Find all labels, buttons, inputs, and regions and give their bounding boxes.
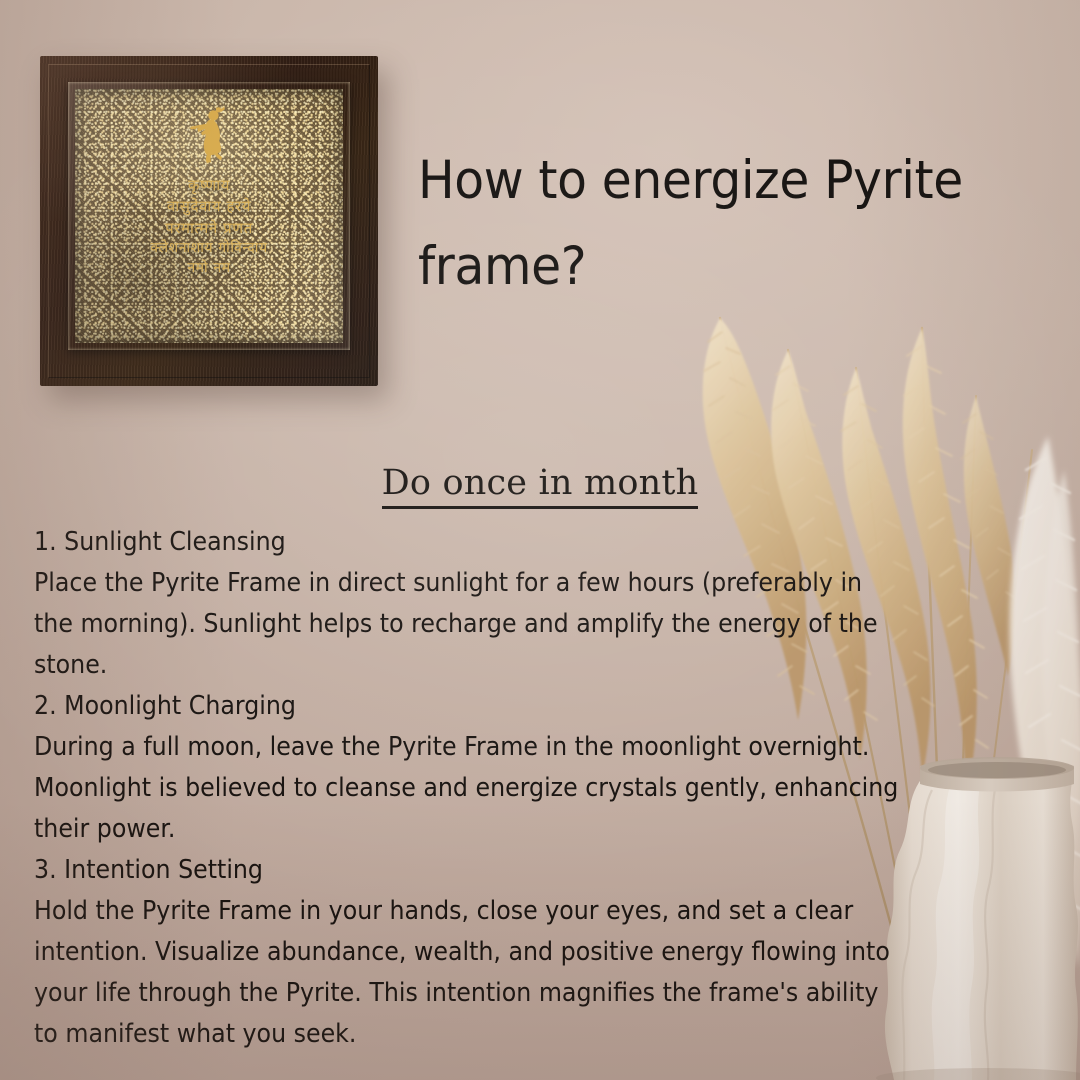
- section-subheading: Do once in month: [0, 463, 1080, 503]
- poster-canvas: कृष्णाय वासुदेवाय हरये परमात्मने प्रणत क…: [0, 0, 1080, 1080]
- mantra-line-4: क्लेशनाशाय गोविन्दाय: [75, 239, 343, 259]
- instruction-step-2: 2. Moonlight Charging During a full moon…: [34, 686, 899, 850]
- mantra-line-1: कृष्णाय: [75, 175, 343, 196]
- step-1-title: 1. Sunlight Cleansing: [34, 522, 899, 563]
- mantra-line-3: परमात्मने प्रणत: [75, 218, 343, 239]
- step-3-title: 3. Intention Setting: [34, 850, 899, 891]
- step-1-body: Place the Pyrite Frame in direct sunligh…: [34, 563, 899, 686]
- section-subheading-text: Do once in month: [382, 463, 699, 509]
- instruction-step-1: 1. Sunlight Cleansing Place the Pyrite F…: [34, 522, 899, 686]
- instruction-step-3: 3. Intention Setting Hold the Pyrite Fra…: [34, 850, 899, 1055]
- mantra-text-block: कृष्णाय वासुदेवाय हरये परमात्मने प्रणत क…: [75, 175, 343, 279]
- page-title: How to energize Pyrite frame?: [418, 138, 998, 310]
- pyrite-stone-surface: कृष्णाय वासुदेवाय हरये परमात्मने प्रणत क…: [75, 89, 343, 343]
- step-2-title: 2. Moonlight Charging: [34, 686, 899, 727]
- instructions-list: 1. Sunlight Cleansing Place the Pyrite F…: [34, 522, 899, 1055]
- step-3-body: Hold the Pyrite Frame in your hands, clo…: [34, 891, 899, 1055]
- gold-liner: कृष्णाय वासुदेवाय हरये परमात्मने प्रणत क…: [68, 82, 350, 350]
- pyrite-krishna-frame: कृष्णाय वासुदेवाय हरये परमात्मने प्रणत क…: [40, 56, 378, 386]
- mantra-line-5: नमो नम: [75, 259, 343, 279]
- krishna-flute-silhouette-icon: [186, 106, 232, 164]
- step-2-body: During a full moon, leave the Pyrite Fra…: [34, 727, 899, 850]
- mantra-line-2: वासुदेवाय हरये: [75, 196, 343, 217]
